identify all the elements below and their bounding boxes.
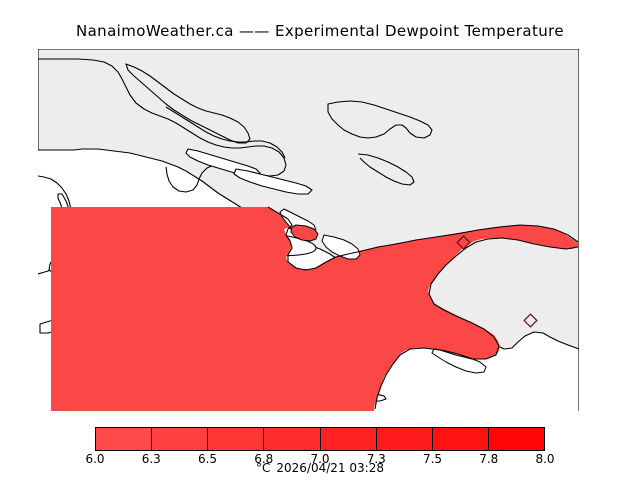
colorbar-strip[interactable] [95, 427, 545, 451]
colorbar-timestamp: 2026/04/21 03:28 [276, 461, 384, 475]
colorbar-unit-label: °C [256, 461, 270, 475]
colorbar-segment-5[interactable] [377, 428, 433, 450]
colorbar-segment-3[interactable] [264, 428, 320, 450]
colorbar-segment-7[interactable] [489, 428, 544, 450]
colorbar-segment-1[interactable] [152, 428, 208, 450]
colorbar-segment-4[interactable] [321, 428, 377, 450]
page-title: NanaimoWeather.ca —— Experimental Dewpoi… [0, 22, 640, 40]
colorbar-segment-2[interactable] [208, 428, 264, 450]
weather-map-page: NanaimoWeather.ca —— Experimental Dewpoi… [0, 0, 640, 480]
colorbar-segment-6[interactable] [433, 428, 489, 450]
map-canvas[interactable] [38, 49, 579, 411]
map-panel[interactable] [38, 49, 579, 411]
colorbar-segment-0[interactable] [96, 428, 152, 450]
colorbar[interactable]: 6.06.36.56.87.07.37.57.88.0 [95, 427, 545, 451]
colorbar-caption: °C2026/04/21 03:28 [0, 461, 640, 475]
